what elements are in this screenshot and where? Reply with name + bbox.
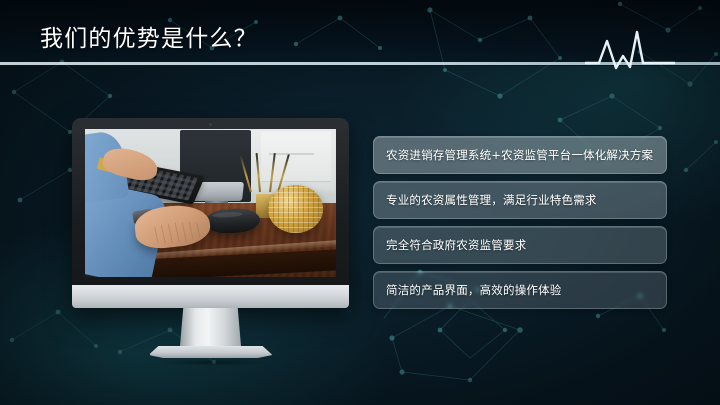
page-title: 我们的优势是什么？ (40, 24, 258, 54)
imac-bezel (72, 118, 349, 285)
imac-stand-foot (149, 346, 273, 358)
imac-body (72, 118, 349, 308)
imac-chin (72, 285, 349, 308)
heartbeat-pulse-icon (585, 26, 675, 70)
imac-shadow (136, 358, 286, 367)
imac-stand-neck (180, 308, 242, 352)
presentation-slide: 我们的优势是什么？ (0, 0, 720, 405)
desk-hands-keyboard-photo (85, 129, 336, 277)
advantage-list: 农资进销存管理系统+农资监管平台一体化解决方案 专业的农资属性管理，满足行业特色… (373, 136, 667, 316)
list-item-label: 专业的农资属性管理，满足行业特色需求 (386, 192, 597, 208)
imac-desktop-mockup (72, 118, 349, 308)
list-item[interactable]: 专业的农资属性管理，满足行业特色需求 (373, 181, 667, 219)
list-item[interactable]: 完全符合政府农资监管要求 (373, 226, 667, 264)
list-item-label: 简洁的产品界面，高效的操作体验 (386, 282, 562, 298)
list-item-label: 完全符合政府农资监管要求 (386, 237, 526, 253)
list-item-label: 农资进销存管理系统+农资监管平台一体化解决方案 (386, 147, 653, 163)
imac-screen (85, 129, 336, 277)
list-item[interactable]: 农资进销存管理系统+农资监管平台一体化解决方案 (373, 136, 667, 174)
apple-logo (205, 290, 217, 304)
list-item[interactable]: 简洁的产品界面，高效的操作体验 (373, 271, 667, 309)
